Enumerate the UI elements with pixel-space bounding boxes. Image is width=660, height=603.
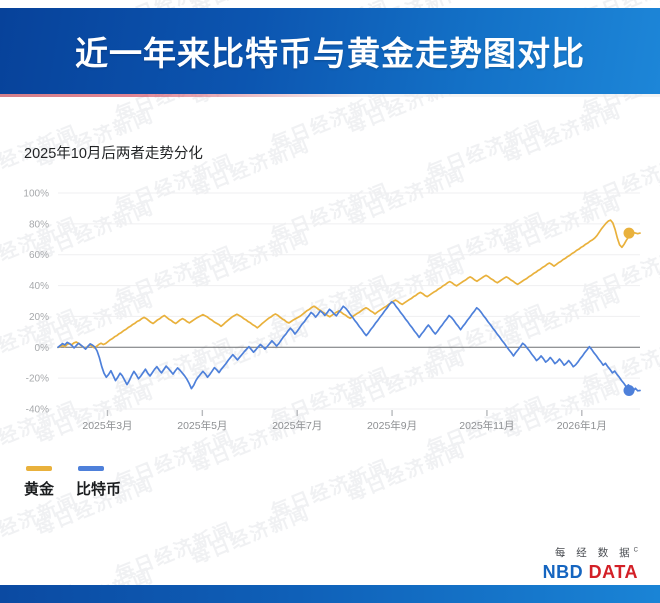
trend-line-chart: 100%80%60%40%20%0%-20%-40% 2025年3月2025年5… (0, 0, 660, 440)
y-axis-tick-label: 0% (35, 343, 50, 354)
y-axis-labels: 100%80%60%40%20%0%-20%-40% (23, 189, 49, 416)
y-axis-tick-label: 40% (29, 281, 49, 292)
legend-swatch-bitcoin (78, 466, 104, 471)
logo-english-text: NBD DATA (543, 562, 638, 583)
x-axis-tick-label: 2025年7月 (272, 419, 322, 432)
y-axis-tick-label: 20% (29, 312, 49, 323)
legend-label-gold: 黄金 (24, 478, 54, 499)
chart-container: 100%80%60%40%20%0%-20%-40% 2025年3月2025年5… (0, 0, 660, 603)
legend-label-bitcoin: 比特币 (76, 478, 121, 499)
logo-cn-label: 每 经 数 据 (555, 547, 634, 559)
x-axis-tick-label: 2025年5月 (177, 419, 227, 432)
logo-chinese-text: 每 经 数 据C (543, 545, 638, 560)
x-axis-labels: 2025年3月2025年5月2025年7月2025年9月2025年11月2026… (82, 419, 607, 432)
x-axis-tick-label: 2025年11月 (459, 419, 514, 432)
copyright-mark: C (634, 548, 638, 554)
y-axis-tick-label: -40% (26, 405, 49, 416)
footer-bar (0, 585, 660, 603)
logo-nbd: NBD (543, 562, 584, 582)
x-axis-tick-label: 2026年1月 (557, 419, 607, 432)
series-line-gold (58, 220, 640, 348)
chart-legend: 黄金 比特币 (24, 466, 121, 499)
y-axis-tick-label: 80% (29, 219, 49, 230)
x-axis-ticks (107, 410, 581, 416)
endpoint-marker-bitcoin (624, 385, 635, 396)
y-axis-tick-label: -20% (26, 374, 49, 385)
logo-data: DATA (589, 562, 638, 582)
x-axis-tick-label: 2025年3月 (82, 419, 132, 432)
endpoint-marker-gold (624, 228, 635, 239)
y-axis-tick-label: 60% (29, 250, 49, 261)
legend-item-bitcoin[interactable]: 比特币 (76, 466, 121, 499)
brand-logo: 每 经 数 据C NBD DATA (543, 545, 638, 583)
y-axis-tick-label: 100% (23, 189, 49, 200)
chart-gridlines (58, 193, 640, 409)
legend-swatch-gold (26, 466, 52, 471)
x-axis-tick-label: 2025年9月 (367, 419, 417, 432)
legend-item-gold[interactable]: 黄金 (24, 466, 54, 499)
